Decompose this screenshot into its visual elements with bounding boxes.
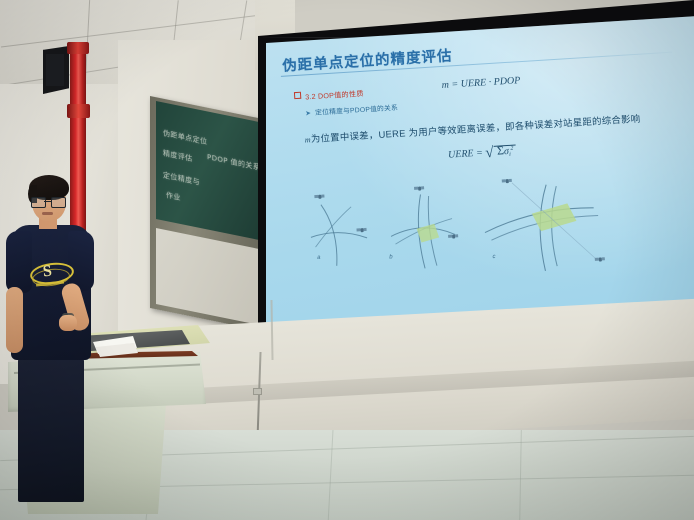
display-screen[interactable]: 伪距单点定位的精度评估 3.2 DOP值的性质 ➤定位精度与PDOP值的关系 m… <box>262 16 694 338</box>
formula-uere-pdop: m = UERE · PDOP <box>441 75 520 91</box>
glasses-lens-right <box>51 197 66 208</box>
lecturer-mouth <box>42 212 53 215</box>
formula-lhs: UERE <box>448 148 474 161</box>
pipe-collar-middle <box>67 104 90 118</box>
satellite-icon-b2 <box>448 232 458 240</box>
satellite-icon-b1 <box>414 184 424 192</box>
radical-icon: √ <box>485 145 494 161</box>
sigma-subscript: i <box>509 152 511 158</box>
slide-diagram: a b <box>302 162 689 303</box>
lecturer-shoulder-left <box>6 231 32 293</box>
satellite-icon-c1 <box>502 177 512 185</box>
satellite-icon-a1 <box>314 192 324 200</box>
formula-uere-rms: UERE = √ Σσi2 <box>448 143 517 165</box>
speaker-grill <box>46 54 64 86</box>
satellite-icon-c2 <box>595 255 605 263</box>
bullet-square-icon <box>294 92 301 99</box>
bullet-arrow-icon: ➤ <box>305 110 311 117</box>
diagram-label-a: a <box>317 255 321 261</box>
formula-equals: = <box>476 148 483 159</box>
glasses-lens-left <box>31 197 46 208</box>
bullet-sub-text: 定位精度与PDOP值的关系 <box>315 105 398 117</box>
lecturer-hand-right <box>59 315 77 331</box>
shirt-logo: S <box>30 263 70 288</box>
lecturer-legs <box>18 357 84 502</box>
shirt-logo-letter: S <box>42 263 53 282</box>
wall-socket <box>253 388 262 395</box>
pipe-collar-top <box>67 42 89 54</box>
slide-body-text: m为位置中误差，UERE 为用户等效距离误差，即各种误差对站星距的综合影响 <box>304 111 640 146</box>
lecturer-arm-left <box>6 287 23 353</box>
glasses-icon <box>31 197 66 206</box>
lecturer: S <box>6 175 102 520</box>
classroom-photo: 伪距单点定位 精度评估 定位精度与 PDOP 值的关系 作业 Fnav 伪距单点… <box>0 0 694 520</box>
slide-bullet-main: 3.2 DOP值的性质 <box>294 88 364 103</box>
body-text-content: 为位置中误差，UERE 为用户等效距离误差，即各种误差对站星距的综合影响 <box>311 113 641 144</box>
lecturer-shoulder-right <box>68 231 94 291</box>
diagram-label-b: b <box>389 254 393 260</box>
diagram-label-c: c <box>492 254 495 260</box>
bullet-main-text: 3.2 DOP值的性质 <box>305 89 364 102</box>
glasses-bridge <box>44 201 51 202</box>
slide-bullet-sub: ➤定位精度与PDOP值的关系 <box>305 102 398 118</box>
sigma-superscript: 2 <box>510 146 513 152</box>
presentation-slide: 伪距单点定位的精度评估 3.2 DOP值的性质 ➤定位精度与PDOP值的关系 m… <box>262 16 694 329</box>
satellite-icon-a2 <box>356 226 366 234</box>
